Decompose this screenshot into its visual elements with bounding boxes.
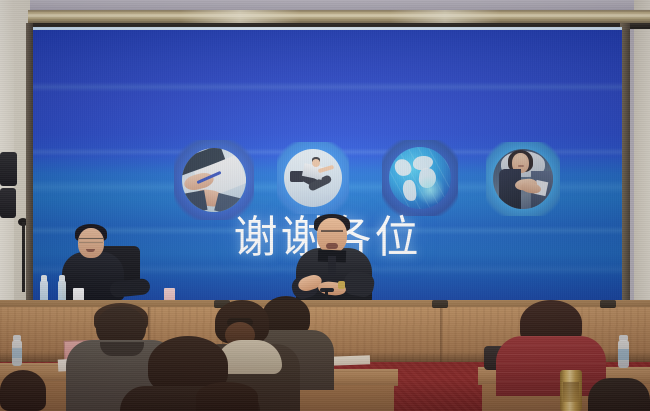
bottle-label bbox=[618, 349, 629, 360]
conference-room-photo: 谢谢各位 bbox=[0, 0, 650, 411]
wristwatch-icon bbox=[338, 281, 345, 289]
wall-speaker-icon bbox=[0, 188, 16, 218]
left-wall-highlight bbox=[0, 0, 14, 300]
trim-sheen bbox=[180, 10, 300, 24]
wall-speaker-icon bbox=[0, 152, 17, 186]
audience-man-grey-suit-collar bbox=[100, 342, 144, 356]
main-speaker-brow bbox=[321, 230, 343, 232]
table-bracket bbox=[600, 300, 616, 308]
eyeglasses-icon bbox=[79, 238, 103, 243]
bottle-label bbox=[12, 348, 22, 358]
audience-person-left-edge-hair bbox=[0, 370, 46, 411]
audience-person-right-edge-body bbox=[588, 378, 650, 411]
thermos-label bbox=[563, 382, 579, 402]
quilted-jacket-texture bbox=[496, 336, 606, 396]
microphone-stand bbox=[22, 222, 25, 292]
main-speaker-tie bbox=[328, 256, 336, 276]
audience-person-foreground-hair bbox=[196, 382, 258, 411]
screen-bezel-left bbox=[26, 23, 33, 303]
metallic-ceiling-trim bbox=[28, 10, 650, 24]
trim-sheen bbox=[390, 10, 500, 24]
left-panelist-head bbox=[78, 228, 104, 258]
right-wall bbox=[634, 0, 650, 340]
main-speaker-mouth bbox=[326, 243, 338, 249]
document-papers bbox=[330, 355, 370, 365]
table-bracket bbox=[432, 300, 448, 308]
